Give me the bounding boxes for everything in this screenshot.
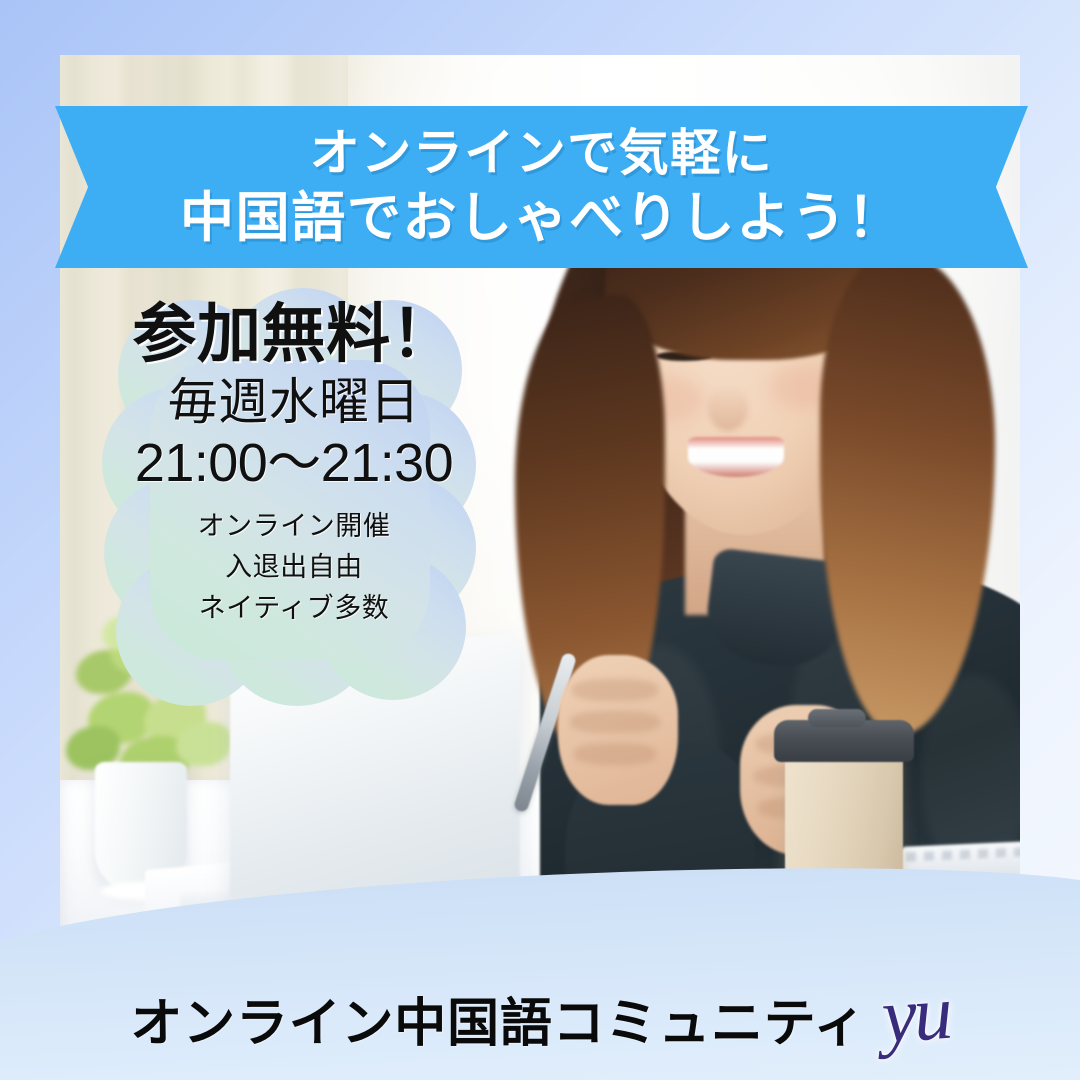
woman-nose bbox=[708, 385, 748, 431]
woman-smile bbox=[688, 437, 784, 477]
poster-canvas: オンラインで気軽に 中国語でおしゃべりしよう！ 参加無料！ 毎週水曜日 21:0… bbox=[0, 0, 1080, 1080]
coffee-cup-lid bbox=[774, 720, 914, 762]
yu-logo: yu bbox=[880, 981, 952, 1048]
schedule-day: 毎週水曜日 bbox=[104, 373, 484, 431]
ribbon-line-2: 中国語でおしゃべりしよう！ bbox=[180, 187, 903, 251]
community-title: オンライン中国語コミュニティ bbox=[130, 998, 866, 1050]
note-list: オンライン開催 入退出自由 ネイティブ多数 bbox=[104, 506, 484, 629]
headline-free: 参加無料！ bbox=[104, 300, 484, 369]
details-text-block: 参加無料！ 毎週水曜日 21:00〜21:30 オンライン開催 入退出自由 ネイ… bbox=[104, 300, 484, 629]
woman-hand-left bbox=[558, 655, 678, 805]
schedule-time: 21:00〜21:30 bbox=[104, 433, 484, 493]
note-item-0: オンライン開催 bbox=[104, 506, 484, 547]
note-item-2: ネイティブ多数 bbox=[104, 588, 484, 629]
headline-ribbon: オンラインで気軽に 中国語でおしゃべりしよう！ bbox=[55, 106, 1028, 268]
ribbon-line-1: オンラインで気軽に bbox=[310, 124, 774, 183]
note-item-1: 入退出自由 bbox=[104, 547, 484, 588]
footer-row: オンライン中国語コミュニティ yu bbox=[0, 978, 1080, 1070]
